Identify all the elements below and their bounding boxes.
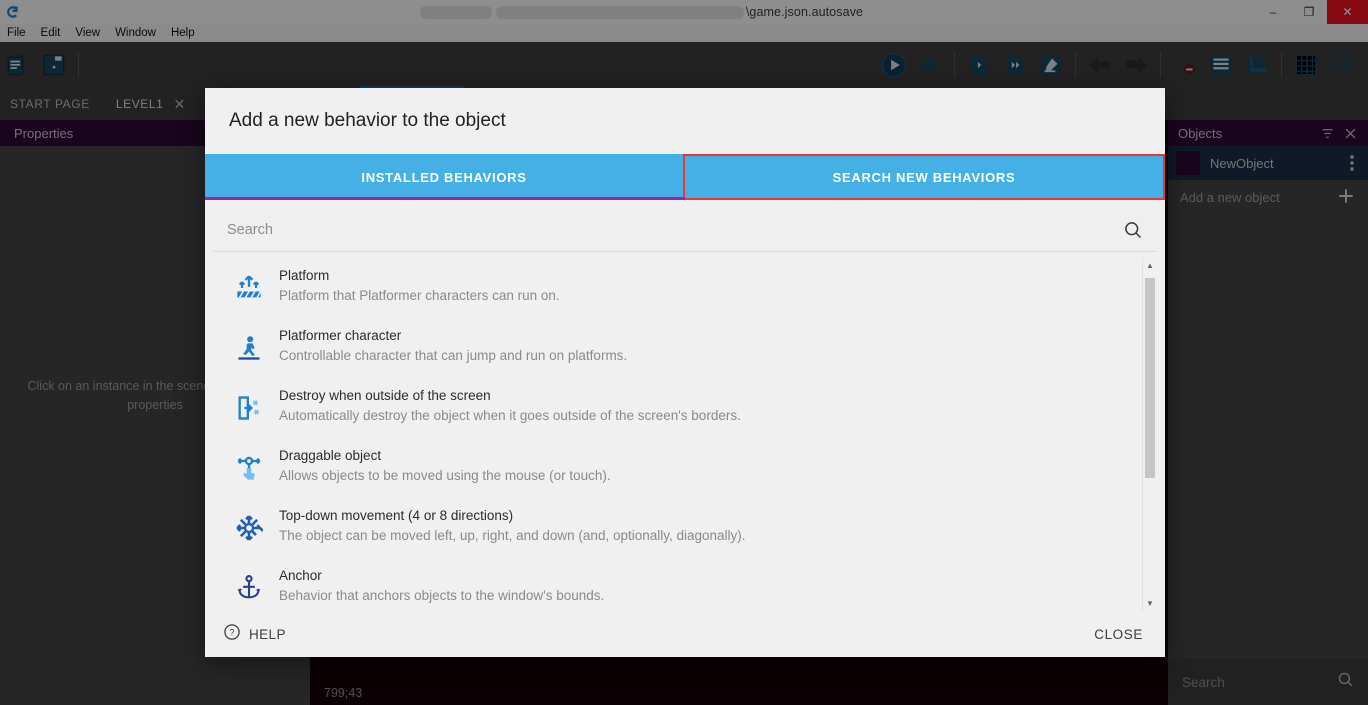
- dialog-tab-active-indicator: [205, 197, 685, 200]
- anchor-icon: [227, 566, 271, 610]
- search-icon[interactable]: [1123, 220, 1143, 240]
- behavior-list-item[interactable]: Destroy when outside of the screen Autom…: [213, 378, 1157, 438]
- scrollbar-thumb[interactable]: [1145, 278, 1155, 478]
- behavior-description: Allows objects to be moved using the mou…: [279, 466, 1157, 486]
- add-behavior-dialog: Add a new behavior to the object INSTALL…: [205, 88, 1165, 657]
- scroll-up-arrow-icon[interactable]: ▲: [1143, 258, 1157, 273]
- behavior-list-item[interactable]: Platformer character Controllable charac…: [213, 318, 1157, 378]
- tab-search-new-behaviors[interactable]: SEARCH NEW BEHAVIORS: [683, 154, 1165, 200]
- dialog-tab-bar: INSTALLED BEHAVIORS SEARCH NEW BEHAVIORS: [205, 154, 1165, 200]
- draggable-object-icon: [227, 446, 271, 490]
- top-down-movement-icon: [227, 506, 271, 550]
- behavior-search-input[interactable]: Search: [227, 222, 1123, 238]
- behavior-description: Platform that Platformer characters can …: [279, 286, 1157, 306]
- dialog-title: Add a new behavior to the object: [205, 88, 1165, 154]
- platform-icon: [227, 266, 271, 310]
- behavior-name: Platformer character: [279, 326, 1157, 346]
- behavior-description: Controllable character that can jump and…: [279, 346, 1157, 366]
- behavior-text: Platformer character Controllable charac…: [271, 326, 1157, 370]
- behavior-name: Top-down movement (4 or 8 directions): [279, 506, 1157, 526]
- behavior-description: Behavior that anchors objects to the win…: [279, 586, 1157, 606]
- help-label: HELP: [249, 627, 286, 642]
- scroll-down-arrow-icon[interactable]: ▼: [1143, 596, 1157, 611]
- dialog-close-button[interactable]: CLOSE: [1094, 627, 1143, 642]
- destroy-outside-screen-icon: [227, 386, 271, 430]
- help-button[interactable]: ? HELP: [223, 623, 286, 646]
- behavior-list-item[interactable]: Platform Platform that Platformer charac…: [213, 258, 1157, 318]
- behavior-description: The object can be moved left, up, right,…: [279, 526, 1157, 546]
- application-window: \game.json.autosave – ❐ ✕ File Edit View…: [0, 0, 1368, 705]
- behavior-name: Draggable object: [279, 446, 1157, 466]
- svg-text:?: ?: [229, 627, 234, 637]
- behavior-list-scrollbar[interactable]: ▲ ▼: [1142, 258, 1157, 611]
- behavior-name: Platform: [279, 266, 1157, 286]
- behavior-search-bar[interactable]: Search: [213, 208, 1157, 252]
- behavior-text: Draggable object Allows objects to be mo…: [271, 446, 1157, 490]
- behavior-list-item[interactable]: Draggable object Allows objects to be mo…: [213, 438, 1157, 498]
- behavior-text: Platform Platform that Platformer charac…: [271, 266, 1157, 310]
- platformer-character-icon: [227, 326, 271, 370]
- behavior-name: Anchor: [279, 566, 1157, 586]
- behavior-text: Top-down movement (4 or 8 directions) Th…: [271, 506, 1157, 550]
- dialog-footer: ? HELP CLOSE: [205, 611, 1165, 657]
- behavior-name: Destroy when outside of the screen: [279, 386, 1157, 406]
- behavior-list[interactable]: Platform Platform that Platformer charac…: [213, 258, 1157, 611]
- behavior-list-item[interactable]: Anchor Behavior that anchors objects to …: [213, 558, 1157, 611]
- tab-installed-behaviors[interactable]: INSTALLED BEHAVIORS: [205, 154, 683, 200]
- behavior-text: Anchor Behavior that anchors objects to …: [271, 566, 1157, 610]
- behavior-list-item[interactable]: Top-down movement (4 or 8 directions) Th…: [213, 498, 1157, 558]
- behavior-description: Automatically destroy the object when it…: [279, 406, 1157, 426]
- help-circle-icon: ?: [223, 623, 241, 646]
- behavior-text: Destroy when outside of the screen Autom…: [271, 386, 1157, 430]
